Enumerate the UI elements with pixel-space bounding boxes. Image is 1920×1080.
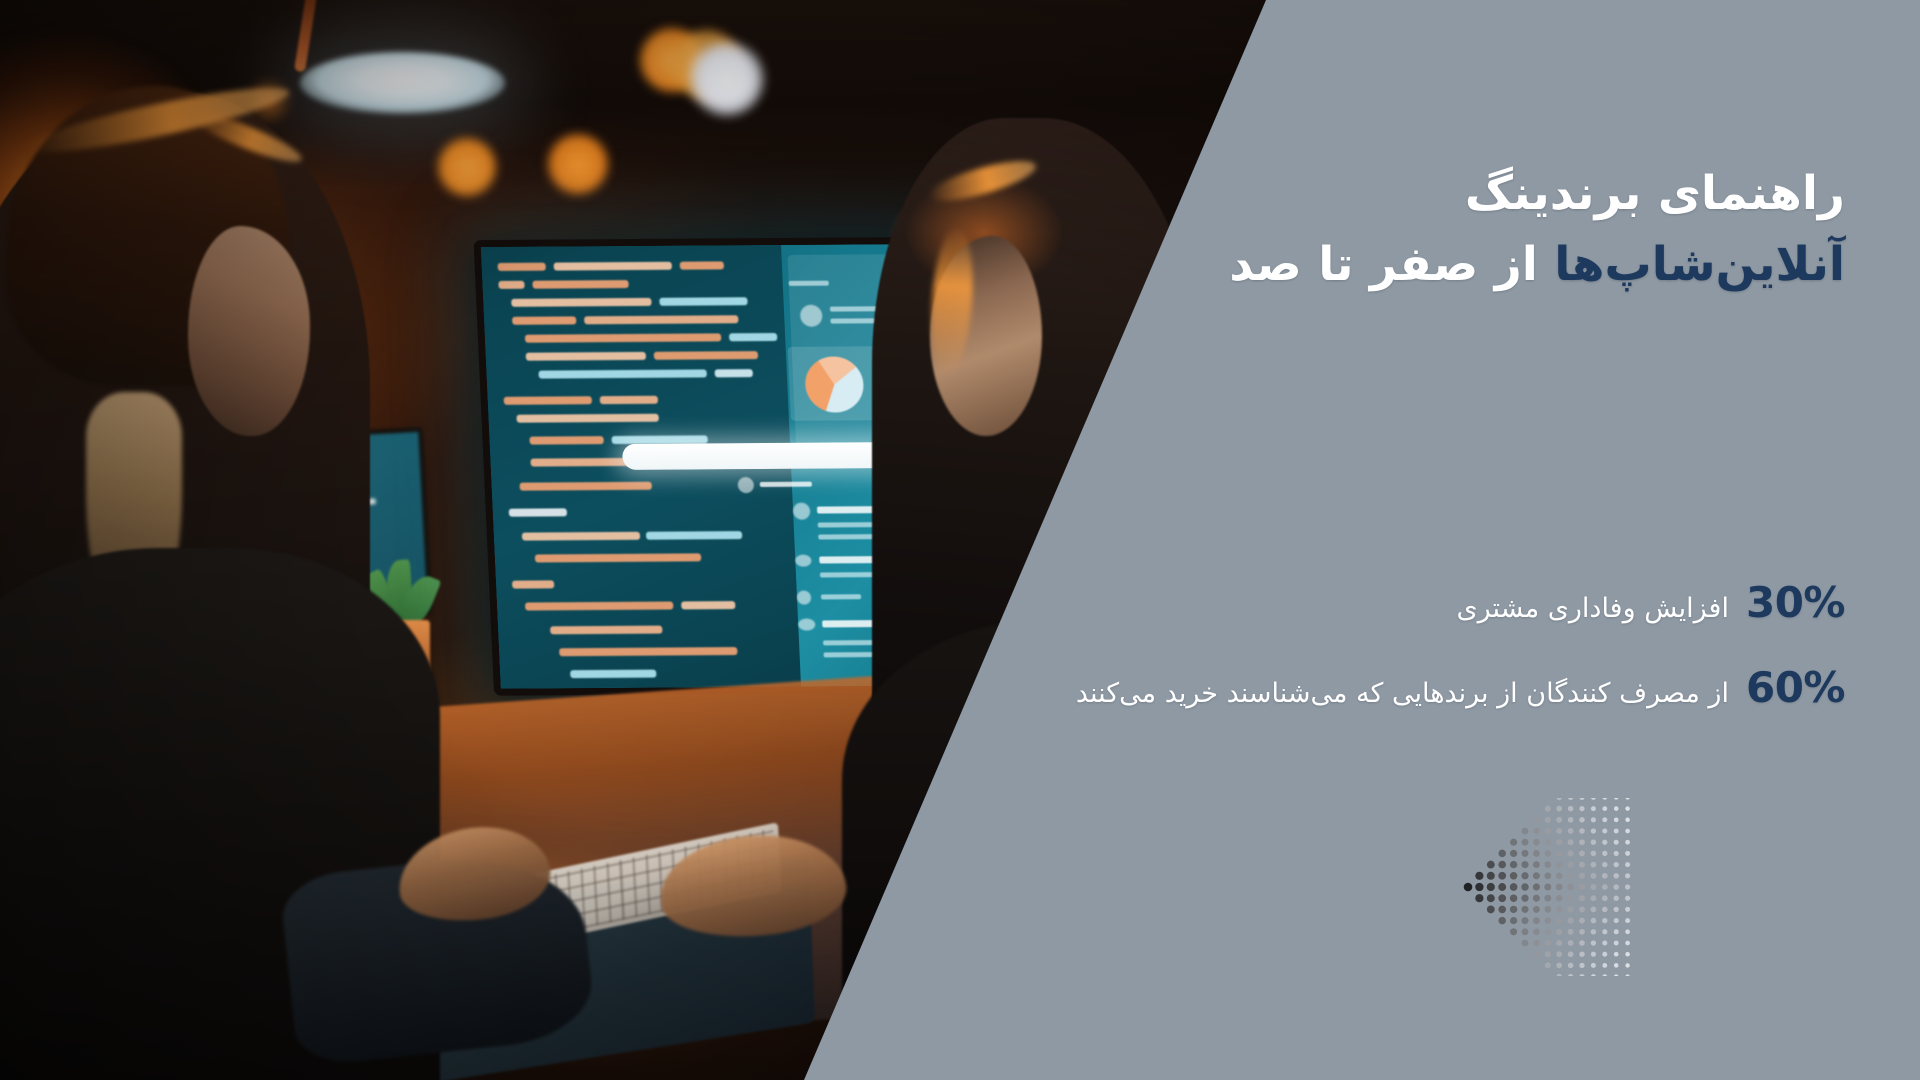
list-bullet-icon	[795, 555, 812, 567]
bokeh-light-icon	[548, 134, 608, 194]
page-title-line-2: آنلاین‌شاپ‌ها از صفر تا صد	[1229, 229, 1845, 300]
page-title-line-2-rest: از صفر تا صد	[1229, 237, 1538, 292]
title-block: راهنمای برندینگ آنلاین‌شاپ‌ها از صفر تا …	[1229, 158, 1845, 301]
stats-list: 30% افزایش وفاداری مشتری 60% از مصرف کنن…	[1076, 578, 1845, 748]
page-title-line-1: راهنمای برندینگ	[1229, 158, 1845, 229]
person-left-face	[188, 226, 310, 436]
stat-row: 60% از مصرف کنندگان از برندهایی که می‌شن…	[1076, 663, 1845, 712]
stat-label: افزایش وفاداری مشتری	[1456, 593, 1729, 624]
stat-row: 30% افزایش وفاداری مشتری	[1076, 578, 1845, 627]
page-title-accent: آنلاین‌شاپ‌ها	[1554, 237, 1845, 292]
avatar	[800, 305, 823, 327]
search-input[interactable]	[622, 442, 901, 470]
pendant-lamp-icon	[300, 52, 505, 114]
list-bullet-icon	[793, 503, 811, 520]
halftone-chevron-left-icon	[1462, 798, 1642, 976]
stat-value: 30%	[1746, 578, 1845, 627]
bokeh-light-icon	[438, 138, 496, 196]
stat-value: 60%	[1746, 663, 1845, 712]
stat-label: از مصرف کنندگان از برندهایی که می‌شناسند…	[1076, 678, 1729, 709]
slide-canvas: راهنمای برندینگ آنلاین‌شاپ‌ها از صفر تا …	[0, 0, 1920, 1080]
search-icon	[737, 477, 754, 493]
list-bullet-icon	[798, 619, 816, 631]
bokeh-light-icon	[690, 42, 764, 116]
list-bullet-icon	[797, 591, 812, 605]
